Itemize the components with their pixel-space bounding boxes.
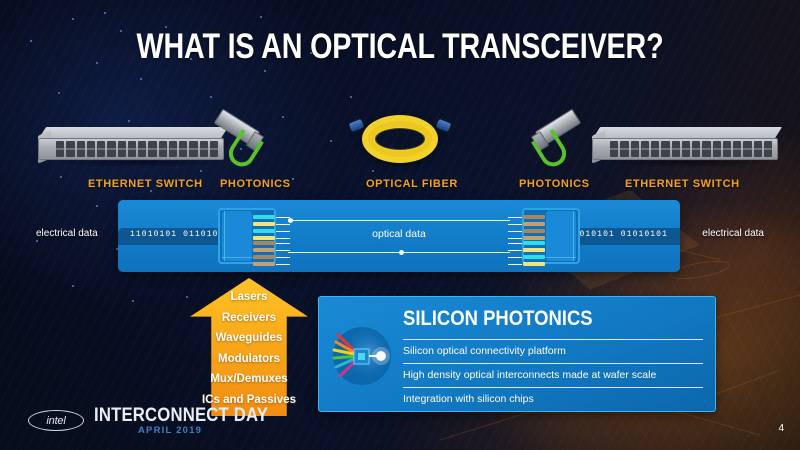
silicon-photonics-chip-right	[522, 208, 580, 264]
caption-ethernet-switch-left: ETHERNET SWITCH	[88, 178, 203, 190]
event-name: INTERCONNECT DAY	[94, 405, 268, 427]
datapath-bar: 11010101 01101011 01010101 01010101 opti…	[118, 200, 680, 272]
silicon-photonics-panel: SILICON PHOTONICS Silicon optical connec…	[318, 296, 716, 412]
fiber-optic-cable-coil-icon	[348, 109, 452, 169]
silicon-photonics-prism-chip-icon	[331, 325, 393, 387]
optical-link-line-bottom	[288, 252, 510, 253]
optical-transceiver-module-icon	[518, 117, 590, 173]
list-item: Modulators	[190, 349, 308, 370]
caption-photonics-left: PHOTONICS	[220, 178, 291, 190]
ethernet-switch-icon	[592, 127, 782, 167]
list-item: Receivers	[190, 308, 308, 329]
bullet-line: Silicon optical connectivity platform	[403, 339, 703, 363]
event-date: APRIL 2019	[138, 425, 202, 436]
binary-bits-left: 11010101 01101011	[130, 230, 230, 239]
list-item: Mux/Demuxes	[190, 369, 308, 390]
page-number: 4	[778, 423, 784, 434]
silicon-photonics-chip-left	[218, 208, 276, 264]
caption-photonics-right: PHOTONICS	[519, 178, 590, 190]
silicon-photonics-title: SILICON PHOTONICS	[403, 307, 593, 331]
caption-optical-fiber: OPTICAL FIBER	[366, 178, 458, 190]
intel-logo: intel	[28, 410, 84, 431]
binary-bits-right: 01010101 01010101	[568, 230, 668, 239]
caption-ethernet-switch-right: ETHERNET SWITCH	[625, 178, 740, 190]
list-item: Lasers	[190, 287, 308, 308]
bullet-line: Integration with silicon chips	[403, 387, 703, 411]
optical-data-label: optical data	[288, 228, 510, 240]
silicon-photonics-bullets: Silicon optical connectivity platform Hi…	[403, 339, 703, 411]
optical-link-line-top	[288, 220, 510, 221]
components-arrow-list: Lasers Receivers Waveguides Modulators M…	[190, 278, 308, 416]
page-title: WHAT IS AN OPTICAL TRANSCEIVER?	[72, 29, 728, 64]
bullet-line: High density optical interconnects made …	[403, 363, 703, 387]
electrical-data-label-right: electrical data	[702, 228, 764, 239]
optical-transceiver-module-icon	[205, 117, 277, 173]
list-item: Waveguides	[190, 328, 308, 349]
electrical-data-label-left: electrical data	[36, 228, 98, 239]
intel-logo-text: intel	[29, 411, 83, 430]
device-row	[0, 105, 800, 175]
slide-canvas: WHAT IS AN OPTICAL TRANSCEIVER? ETHERNET…	[0, 0, 800, 450]
ethernet-switch-icon	[38, 127, 228, 167]
